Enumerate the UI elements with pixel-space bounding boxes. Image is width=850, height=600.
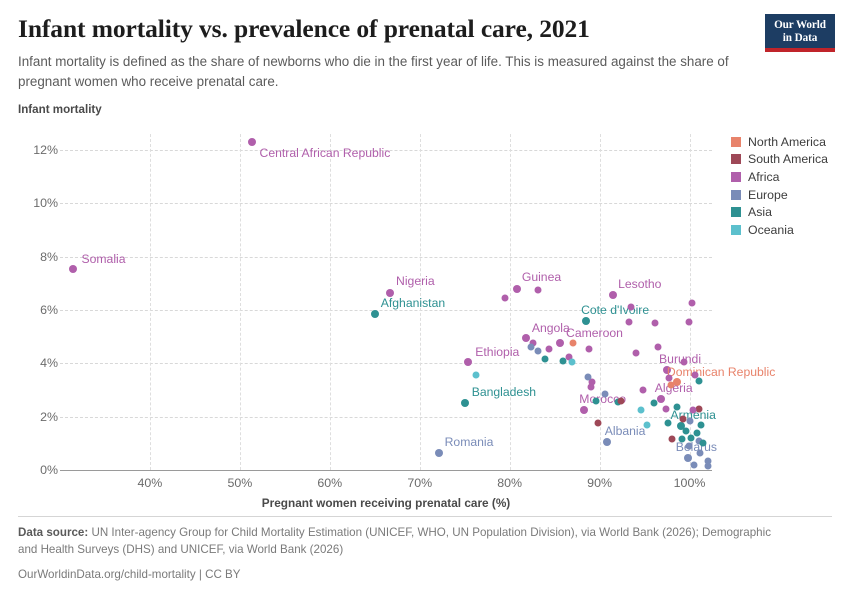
data-point-label: Somalia (81, 252, 125, 266)
y-axis-tick-label: 12% (12, 143, 58, 157)
data-point-burundi[interactable] (663, 366, 671, 374)
data-point[interactable] (585, 345, 592, 352)
data-point-label: Romania (445, 435, 494, 449)
data-point[interactable] (687, 417, 694, 424)
gridline-vertical (240, 134, 241, 470)
legend-item-africa[interactable]: Africa (731, 168, 847, 186)
legend-swatch-icon (731, 137, 741, 147)
data-point[interactable] (584, 373, 591, 380)
gridline-vertical (510, 134, 511, 470)
legend-item-oceania[interactable]: Oceania (731, 221, 847, 239)
y-axis-tick-label: 2% (12, 410, 58, 424)
legend-swatch-icon (731, 172, 741, 182)
legend-item-label: Asia (748, 205, 772, 219)
chart-header: Infant mortality vs. prevalence of prena… (18, 14, 758, 91)
data-point[interactable] (680, 416, 687, 423)
data-point[interactable] (650, 400, 657, 407)
data-point[interactable] (689, 300, 696, 307)
x-axis-tick-label: 90% (587, 476, 612, 490)
legend-item-label: Africa (748, 170, 779, 184)
scatter-plot-area[interactable]: 0%2%4%6%8%10%12%40%50%60%70%80%90%100%So… (60, 134, 712, 470)
owid-logo-line2: in Data (783, 32, 817, 45)
legend-swatch-icon (731, 154, 741, 164)
data-point-label: Ethiopia (475, 345, 519, 359)
legend-item-label: Oceania (748, 223, 794, 237)
gridline-horizontal (60, 257, 712, 258)
data-point[interactable] (618, 397, 625, 404)
data-point[interactable] (639, 387, 646, 394)
data-point[interactable] (667, 381, 674, 388)
data-point[interactable] (669, 436, 676, 443)
data-point-afghanistan[interactable] (371, 310, 379, 318)
data-point[interactable] (601, 391, 608, 398)
gridline-vertical (420, 134, 421, 470)
data-point-angola[interactable] (522, 334, 530, 342)
gridline-horizontal (60, 470, 712, 471)
data-point[interactable] (700, 440, 707, 447)
data-point[interactable] (546, 345, 553, 352)
data-point-belarus[interactable] (684, 454, 692, 462)
data-point[interactable] (665, 375, 672, 382)
data-point[interactable] (652, 320, 659, 327)
data-point[interactable] (559, 357, 566, 364)
data-point-label: Bangladesh (472, 385, 536, 399)
data-point-nigeria[interactable] (386, 289, 394, 297)
data-point-albania[interactable] (603, 438, 611, 446)
data-point-label: Cameroon (566, 326, 623, 340)
data-point[interactable] (644, 421, 651, 428)
y-axis-tick-label: 6% (12, 303, 58, 317)
legend-item-label: Europe (748, 188, 788, 202)
chart-page: Infant mortality vs. prevalence of prena… (0, 0, 850, 600)
data-point[interactable] (679, 436, 686, 443)
data-point[interactable] (697, 449, 704, 456)
data-point[interactable] (663, 405, 670, 412)
data-point-morocco[interactable] (580, 406, 588, 414)
y-axis-title: Infant mortality (18, 103, 102, 116)
data-point[interactable] (502, 295, 509, 302)
data-point-label: Central African Republic (260, 146, 391, 160)
data-point[interactable] (673, 404, 680, 411)
legend-item-label: North America (748, 135, 826, 149)
x-axis-tick-label: 40% (138, 476, 163, 490)
data-point[interactable] (698, 421, 705, 428)
data-source-label: Data source: (18, 526, 88, 539)
data-point-somalia[interactable] (69, 265, 77, 273)
data-point-romania[interactable] (435, 449, 443, 457)
y-axis-tick-label: 4% (12, 356, 58, 370)
owid-logo-line1: Our World (774, 19, 826, 32)
legend-swatch-icon (731, 225, 741, 235)
data-point-guinea[interactable] (513, 285, 521, 293)
data-point[interactable] (592, 397, 599, 404)
data-point[interactable] (587, 384, 594, 391)
data-point[interactable] (626, 319, 633, 326)
legend-item-south-america[interactable]: South America (731, 151, 847, 169)
x-axis-tick-label: 100% (674, 476, 706, 490)
x-axis-tick-label: 70% (407, 476, 432, 490)
x-axis-tick-label: 80% (497, 476, 522, 490)
legend-swatch-icon (731, 207, 741, 217)
data-point-cameroon[interactable] (556, 339, 564, 347)
legend: North AmericaSouth AmericaAfricaEuropeAs… (731, 133, 847, 239)
data-point-bangladesh[interactable] (461, 399, 469, 407)
data-point[interactable] (664, 420, 671, 427)
data-point-label: Albania (605, 424, 646, 438)
data-point[interactable] (688, 435, 695, 442)
plot-wrapper: 0%2%4%6%8%10%12%40%50%60%70%80%90%100%So… (0, 122, 850, 482)
data-point[interactable] (693, 429, 700, 436)
gridline-horizontal (60, 363, 712, 364)
footer-divider (18, 516, 832, 517)
data-point[interactable] (696, 377, 703, 384)
legend-item-asia[interactable]: Asia (731, 203, 847, 221)
data-point[interactable] (541, 356, 548, 363)
data-point-lesotho[interactable] (609, 291, 617, 299)
data-point[interactable] (594, 420, 601, 427)
data-point[interactable] (632, 349, 639, 356)
chart-subtitle: Infant mortality is defined as the share… (18, 52, 750, 91)
y-axis-tick-label: 8% (12, 250, 58, 264)
gridline-horizontal (60, 203, 712, 204)
data-point[interactable] (473, 372, 480, 379)
data-source-text: Data source: UN Inter-agency Group for C… (18, 524, 788, 559)
data-point-label: Guinea (522, 270, 561, 284)
data-point[interactable] (705, 463, 712, 470)
gridline-horizontal (60, 150, 712, 151)
x-axis-title: Pregnant women receiving prenatal care (… (60, 496, 712, 510)
legend-item-label: South America (748, 152, 828, 166)
data-point[interactable] (535, 287, 542, 294)
data-point-label: Dominican Republic (667, 365, 775, 379)
data-point-algeria[interactable] (657, 395, 665, 403)
owid-link[interactable]: OurWorldinData.org/child-mortality | CC … (18, 568, 808, 581)
legend-item-north-america[interactable]: North America (731, 133, 847, 151)
data-point[interactable] (681, 359, 688, 366)
data-point-ethiopia[interactable] (464, 358, 472, 366)
data-point[interactable] (534, 348, 541, 355)
data-source-body: UN Inter-agency Group for Child Mortalit… (18, 526, 771, 556)
x-axis-tick-label: 60% (317, 476, 342, 490)
data-point-cote-d-ivoire[interactable] (582, 317, 590, 325)
page-title: Infant mortality vs. prevalence of prena… (18, 14, 758, 44)
gridline-horizontal (60, 417, 712, 418)
data-point-label: Angola (532, 321, 570, 335)
data-point-central-african-republic[interactable] (248, 138, 256, 146)
data-point[interactable] (637, 407, 644, 414)
data-point[interactable] (569, 340, 576, 347)
data-point[interactable] (685, 319, 692, 326)
data-point[interactable] (691, 461, 698, 468)
y-axis-tick-label: 0% (12, 463, 58, 477)
x-axis-tick-label: 50% (227, 476, 252, 490)
data-point[interactable] (628, 304, 635, 311)
owid-logo[interactable]: Our World in Data (765, 14, 835, 52)
data-point[interactable] (568, 359, 575, 366)
legend-swatch-icon (731, 190, 741, 200)
gridline-vertical (330, 134, 331, 470)
data-point-label: Afghanistan (381, 296, 445, 310)
data-point[interactable] (690, 407, 697, 414)
data-point-label: Lesotho (618, 277, 661, 291)
data-point[interactable] (655, 344, 662, 351)
gridline-horizontal (60, 310, 712, 311)
legend-item-europe[interactable]: Europe (731, 186, 847, 204)
data-point[interactable] (682, 428, 689, 435)
data-point[interactable] (685, 443, 692, 450)
gridline-vertical (150, 134, 151, 470)
y-axis-tick-label: 10% (12, 196, 58, 210)
chart-footer: Data source: UN Inter-agency Group for C… (18, 524, 808, 581)
data-point-label: Nigeria (396, 274, 435, 288)
